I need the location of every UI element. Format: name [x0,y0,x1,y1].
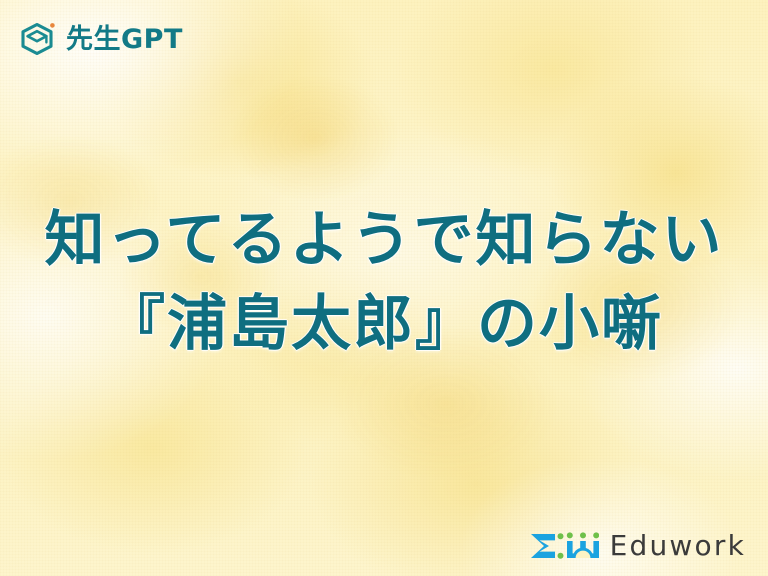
orange-dot-icon [50,23,55,28]
eduwork-wordmark: Eduwork [610,532,746,560]
page-title: 知ってるようで知らない 『浦島太郎』の小噺 [0,198,768,366]
title-line-1: 知ってるようで知らない [0,198,768,282]
brand-logo[interactable]: 先生GPT [16,18,183,60]
slide-canvas: 先生GPT 知ってるようで知らない 『浦島太郎』の小噺 Eduwork [0,0,768,576]
brand-wordmark: 先生GPT [66,26,183,53]
title-line-2: 『浦島太郎』の小噺 [0,282,768,366]
eduwork-logo[interactable]: Eduwork [527,530,746,562]
graduation-cap-hexagon-icon [16,18,58,60]
eduwork-ew-monogram-icon [527,530,599,562]
